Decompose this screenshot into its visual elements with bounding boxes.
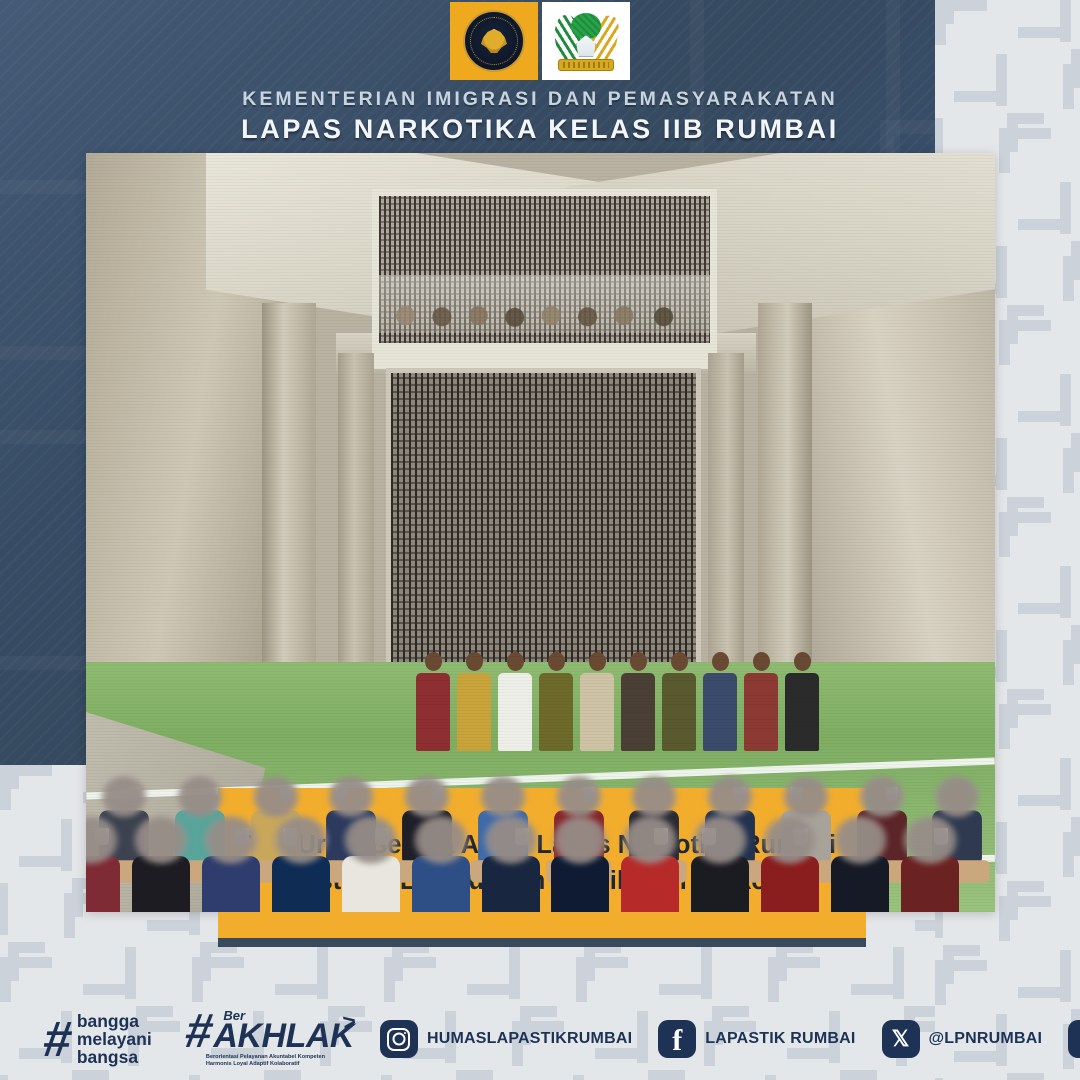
pemasyarakatan-logo: [542, 2, 630, 80]
social-facebook[interactable]: f LAPASTIK RUMBAI: [658, 1020, 855, 1058]
poster-footer: # bangga melayani bangsa # Ber AKHLAK > …: [0, 998, 1080, 1080]
poster-header: KEMENTERIAN IMIGRASI DAN PEMASYARAKATAN …: [0, 0, 1080, 150]
instagram-icon: [380, 1020, 418, 1058]
akhlak-arrow-icon: >: [341, 1009, 357, 1037]
kemenimipas-logo: [450, 2, 538, 80]
x-twitter-handle: @LPNRUMBAI: [929, 1030, 1043, 1048]
headline-banner-underline: [218, 938, 866, 947]
bangga-melayani-bangsa-logo: # bangga melayani bangsa: [44, 1012, 152, 1066]
poster-canvas: KEMENTERIAN IMIGRASI DAN PEMASYARAKATAN …: [0, 0, 1080, 1080]
social-instagram[interactable]: HUMASLAPASTIKRUMBAI: [380, 1020, 632, 1058]
bangga-line-2: melayani: [77, 1030, 152, 1048]
instagram-handle: HUMASLAPASTIKRUMBAI: [427, 1030, 632, 1048]
seated-participants: [86, 606, 995, 816]
bangga-line-1: bangga: [77, 1012, 152, 1030]
logo-group: [450, 2, 630, 80]
ministry-name: KEMENTERIAN IMIGRASI DAN PEMASYARAKATAN: [0, 88, 1080, 111]
akhlak-tagline: Berorientasi Pelayanan Akuntabel Kompete…: [206, 1054, 334, 1069]
social-tiktok[interactable]: ♪ lapastikrumbai: [1068, 1020, 1080, 1058]
x-twitter-icon: 𝕏: [882, 1020, 920, 1058]
bangga-line-3: bangsa: [77, 1048, 152, 1066]
tiktok-icon: ♪: [1068, 1020, 1080, 1058]
akhlak-hash-icon: #: [182, 1012, 216, 1051]
facebook-handle: LAPASTIK RUMBAI: [705, 1030, 855, 1048]
berakhlak-logo: # Ber AKHLAK > Berorientasi Pelayanan Ak…: [186, 1009, 354, 1068]
akhlak-word-text: AKHLAK: [213, 1022, 354, 1051]
mezzanine-cage: [372, 189, 717, 369]
institution-name: LAPAS NARKOTIKA KELAS IIB RUMBAI: [0, 114, 1080, 145]
social-x-twitter[interactable]: 𝕏 @LPNRUMBAI: [882, 1020, 1043, 1058]
facebook-icon: f: [658, 1020, 696, 1058]
bangga-hash-icon: #: [41, 1019, 74, 1059]
